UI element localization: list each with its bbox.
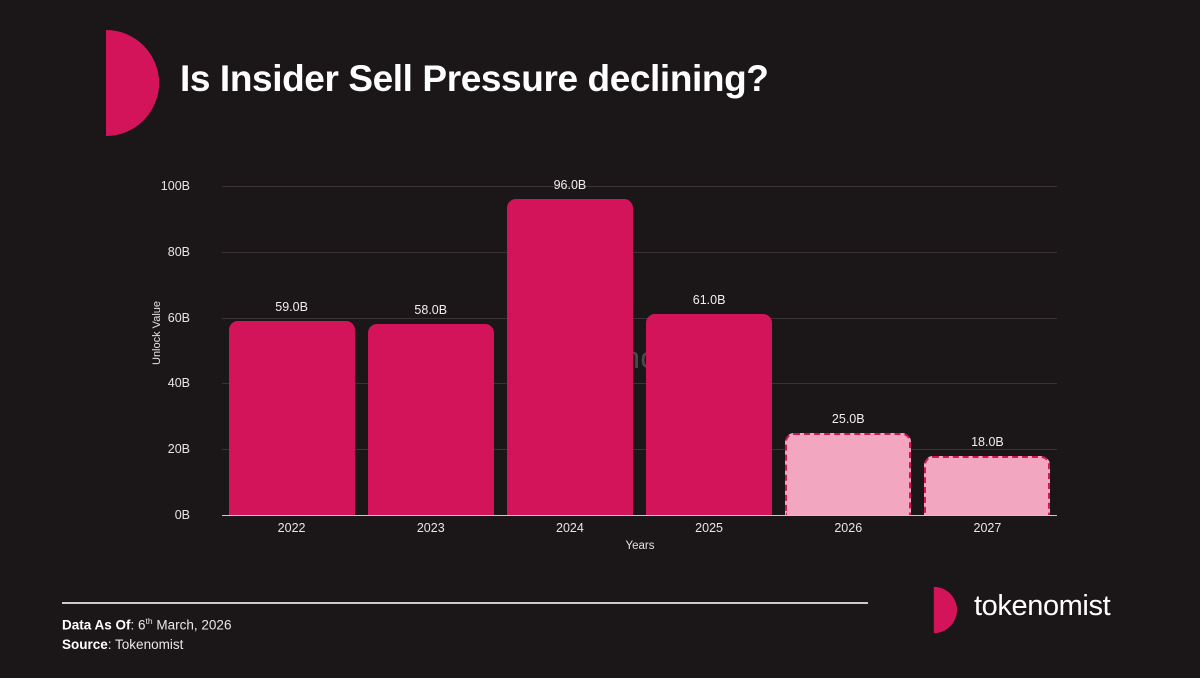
bar-2025[interactable] [646,314,772,515]
bar-value-label-2025: 61.0B [693,293,726,307]
data-as-of-colon: : [131,618,139,633]
bar-2027[interactable] [924,456,1050,515]
tokenomist-mark-icon [62,28,160,138]
tokenomist-mark-icon [912,586,960,634]
y-axis-tick-label: 80B [146,245,190,259]
x-axis-tick-2027: 2027 [974,521,1002,535]
source-key: Source [62,637,108,652]
data-as-of-day: 6 [138,618,146,633]
x-axis-label: Years [0,540,1200,552]
bar-2022[interactable] [229,321,355,515]
footer-divider [62,602,868,604]
source-colon: : [108,637,115,652]
footer-brand-name: tokenomist [974,590,1110,623]
bar-value-label-2024: 96.0B [554,178,587,192]
bar-2023[interactable] [368,324,494,515]
bar-value-label-2027: 18.0B [971,435,1004,449]
bar-value-label-2022: 59.0B [275,300,308,314]
footer: Data As Of: 6th March, 2026 Source: Toke… [0,570,1200,678]
x-axis-tick-2024: 2024 [556,521,584,535]
bar-2024[interactable] [507,199,633,515]
y-axis-tick-label: 0B [146,508,190,522]
bar-2026[interactable] [785,433,911,515]
source-line: Source: Tokenomist [62,635,231,655]
bar-value-label-2023: 58.0B [414,303,447,317]
x-axis-tick-2025: 2025 [695,521,723,535]
source-value: Tokenomist [115,637,183,652]
y-axis-tick-label: 40B [146,376,190,390]
x-axis-tick-2026: 2026 [834,521,862,535]
x-axis-tick-2023: 2023 [417,521,445,535]
x-axis-tick-2022: 2022 [278,521,306,535]
data-as-of-rest: March, 2026 [156,618,231,633]
footer-brand: tokenomist [912,582,1162,638]
chart: 0B20B40B60B80B100B Unlock Value tokenomi… [0,150,1200,570]
y-axis-label: Unlock Value [151,301,163,365]
data-as-of-key: Data As Of [62,618,131,633]
bar-value-label-2026: 25.0B [832,412,865,426]
page-title: Is Insider Sell Pressure declining? [180,58,769,100]
x-axis-line [222,515,1057,516]
y-axis-tick-label: 100B [146,179,190,193]
y-axis-tick-label: 20B [146,442,190,456]
footer-meta: Data As Of: 6th March, 2026 Source: Toke… [62,612,231,655]
header: Is Insider Sell Pressure declining? [0,0,1200,150]
data-as-of-line: Data As Of: 6th March, 2026 [62,612,231,635]
plot-area: 59.0B58.0B96.0B61.0B25.0B18.0B [222,186,1057,515]
data-as-of-ordinal: th [146,616,153,626]
